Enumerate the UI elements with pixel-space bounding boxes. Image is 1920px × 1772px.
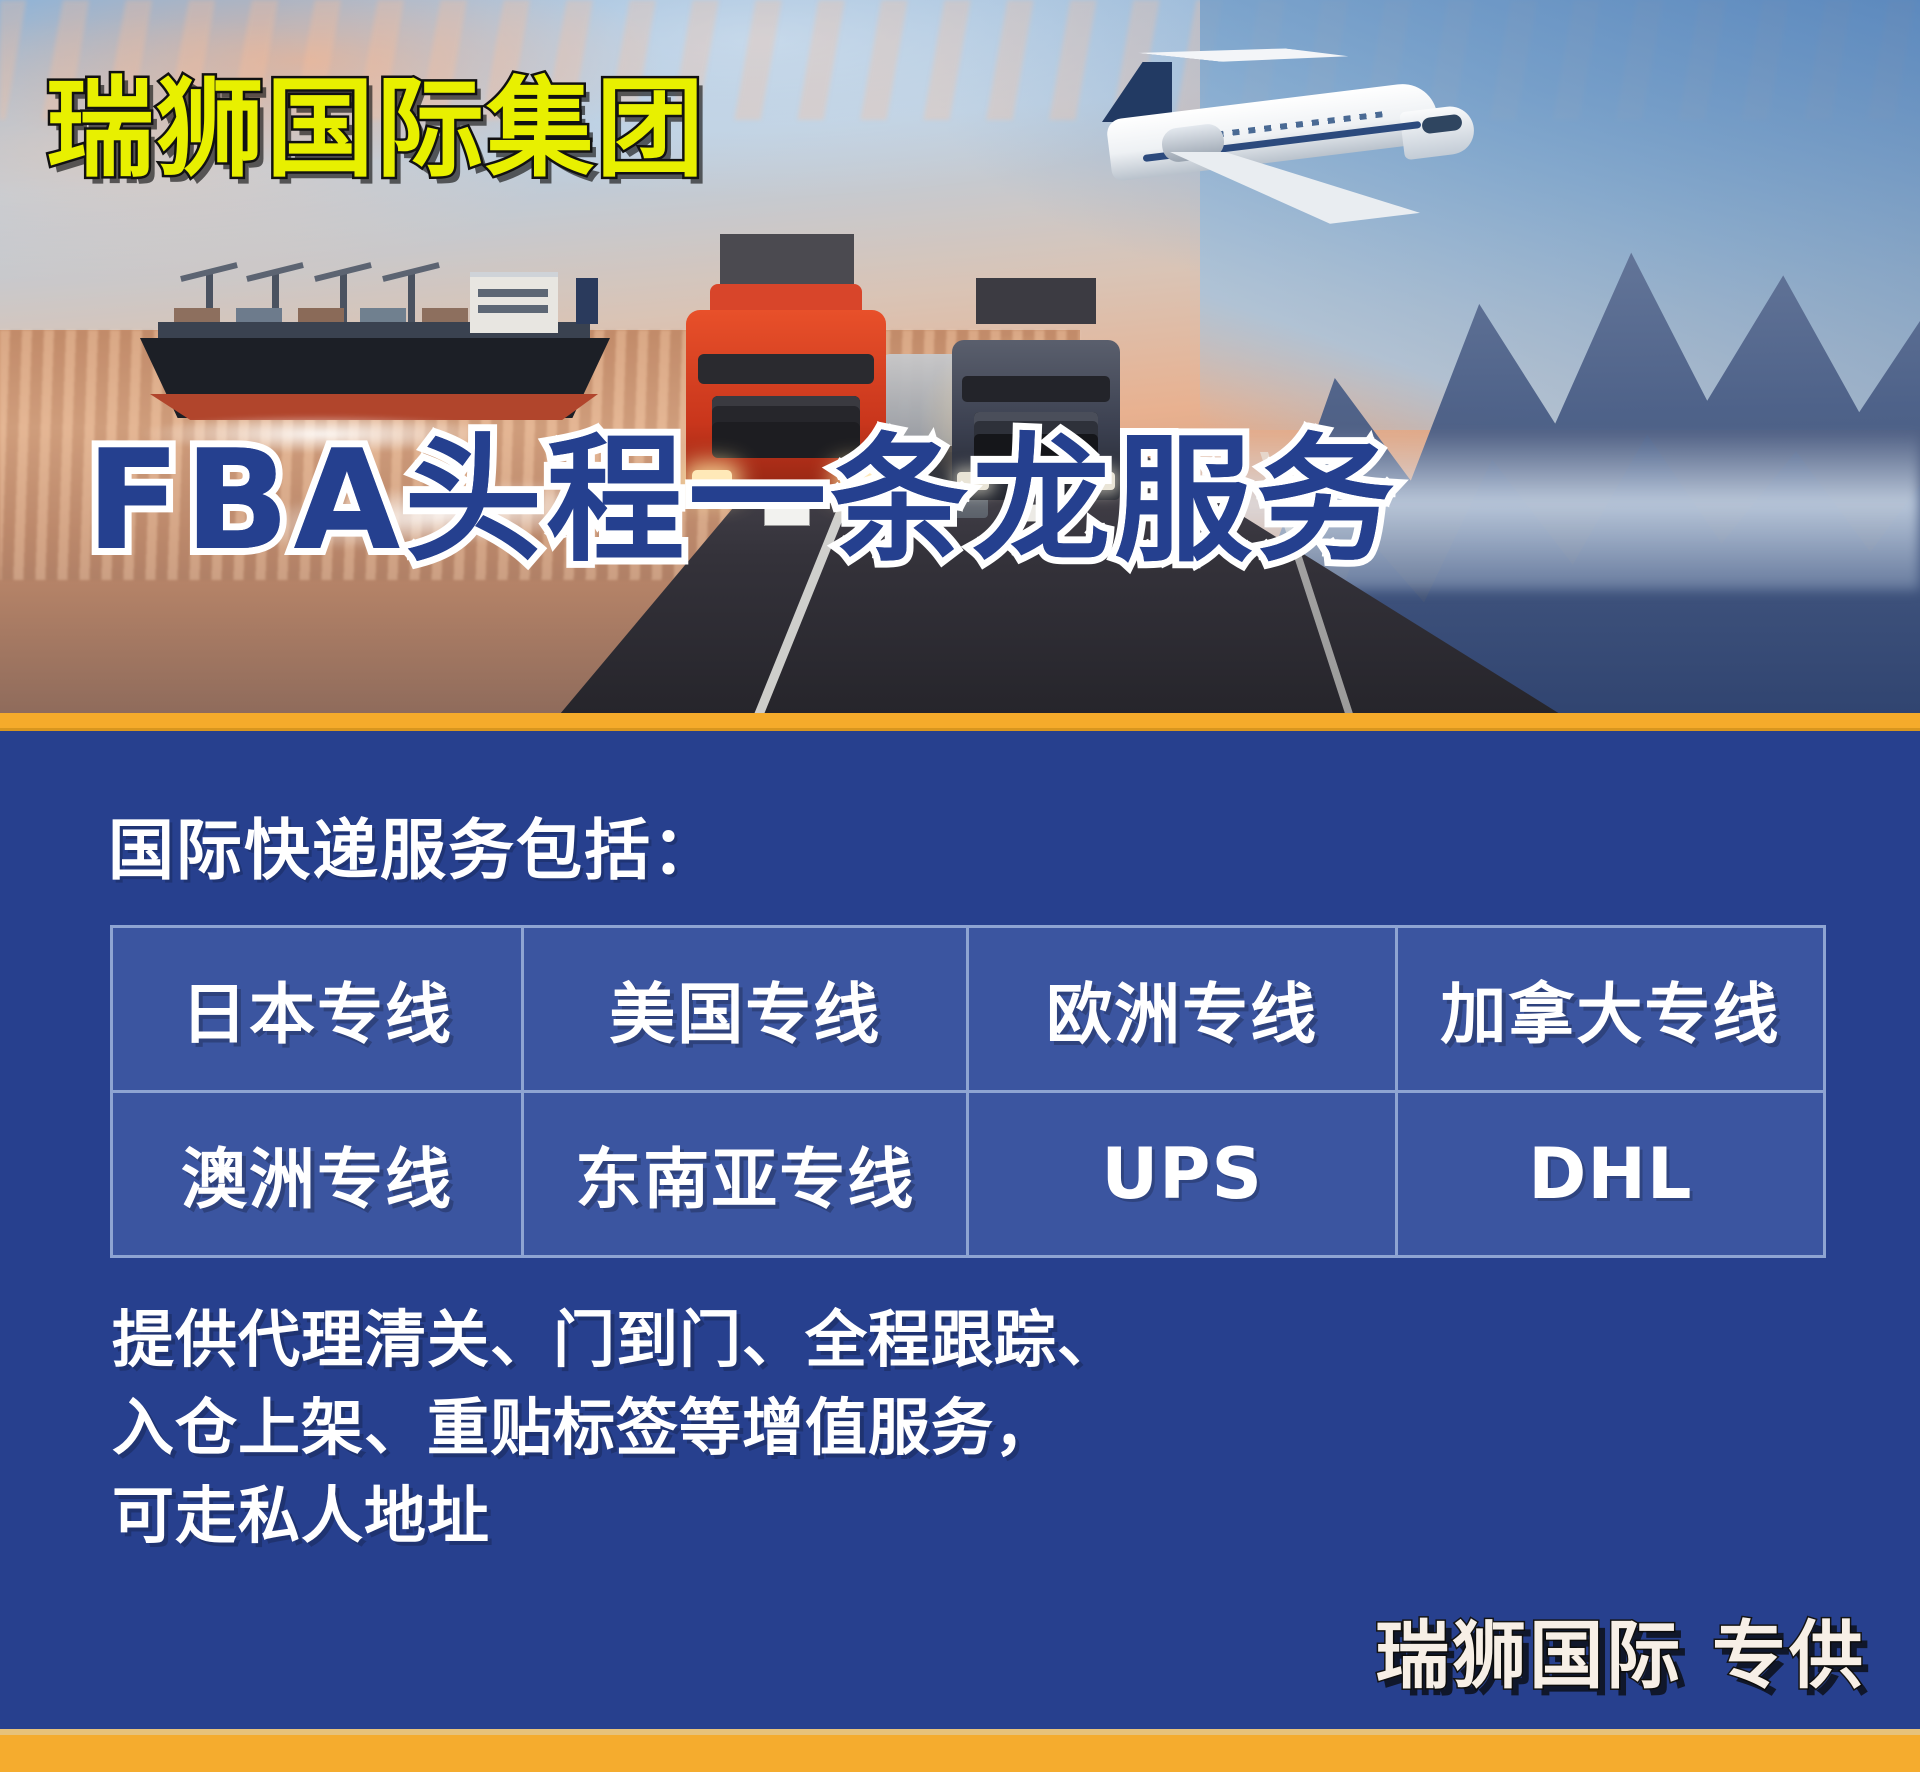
hero-banner: 瑞狮国际集团 FBA头程一条龙服务 FBA头程一条龙服务: [0, 0, 1920, 714]
footer-brand-text: 瑞狮国际 专供: [1375, 1596, 1866, 1703]
bottom-gold-strip: [0, 1735, 1920, 1772]
truck-trailer: [976, 278, 1096, 324]
service-cell-southeast-asia[interactable]: 东南亚专线: [523, 1092, 968, 1257]
service-cell-japan[interactable]: 日本专线: [112, 927, 523, 1092]
bottom-blue-strip: [0, 1721, 1920, 1729]
poster-root: 瑞狮国际集团 FBA头程一条龙服务 FBA头程一条龙服务 国际快递服务包括： 日…: [0, 0, 1920, 1772]
hero-headline: FBA头程一条龙服务: [86, 432, 1398, 570]
gold-divider-bar: [0, 713, 1920, 728]
table-row: 澳洲专线 东南亚专线 UPS DHL: [112, 1092, 1825, 1257]
description-line-1: 提供代理清关、门到门、全程跟踪、: [112, 1296, 1120, 1384]
service-cell-australia[interactable]: 澳洲专线: [112, 1092, 523, 1257]
service-cell-dhl[interactable]: DHL: [1396, 1092, 1824, 1257]
service-cell-canada[interactable]: 加拿大专线: [1396, 927, 1824, 1092]
description-line-2: 入仓上架、重贴标签等增值服务，: [112, 1384, 1120, 1472]
table-row: 日本专线 美国专线 欧洲专线 加拿大专线: [112, 927, 1825, 1092]
service-cell-europe[interactable]: 欧洲专线: [968, 927, 1396, 1092]
services-table: 日本专线 美国专线 欧洲专线 加拿大专线 澳洲专线 东南亚专线 UPS DHL: [110, 925, 1826, 1258]
company-logo-text: 瑞狮国际集团: [46, 76, 706, 184]
section-heading: 国际快递服务包括：: [108, 797, 720, 893]
truck-windshield: [962, 376, 1110, 402]
service-cell-usa[interactable]: 美国专线: [523, 927, 968, 1092]
ship-funnel: [576, 278, 598, 324]
truck-trailer: [720, 234, 854, 288]
truck-windshield: [698, 354, 874, 384]
service-description: 提供代理清关、门到门、全程跟踪、 入仓上架、重贴标签等增值服务， 可走私人地址: [112, 1296, 1120, 1560]
service-cell-ups[interactable]: UPS: [968, 1092, 1396, 1257]
airplane-wing: [1170, 152, 1420, 230]
ship-superstructure: [470, 272, 558, 333]
airplane-icon: [1050, 34, 1480, 234]
description-line-3: 可走私人地址: [112, 1472, 1120, 1560]
